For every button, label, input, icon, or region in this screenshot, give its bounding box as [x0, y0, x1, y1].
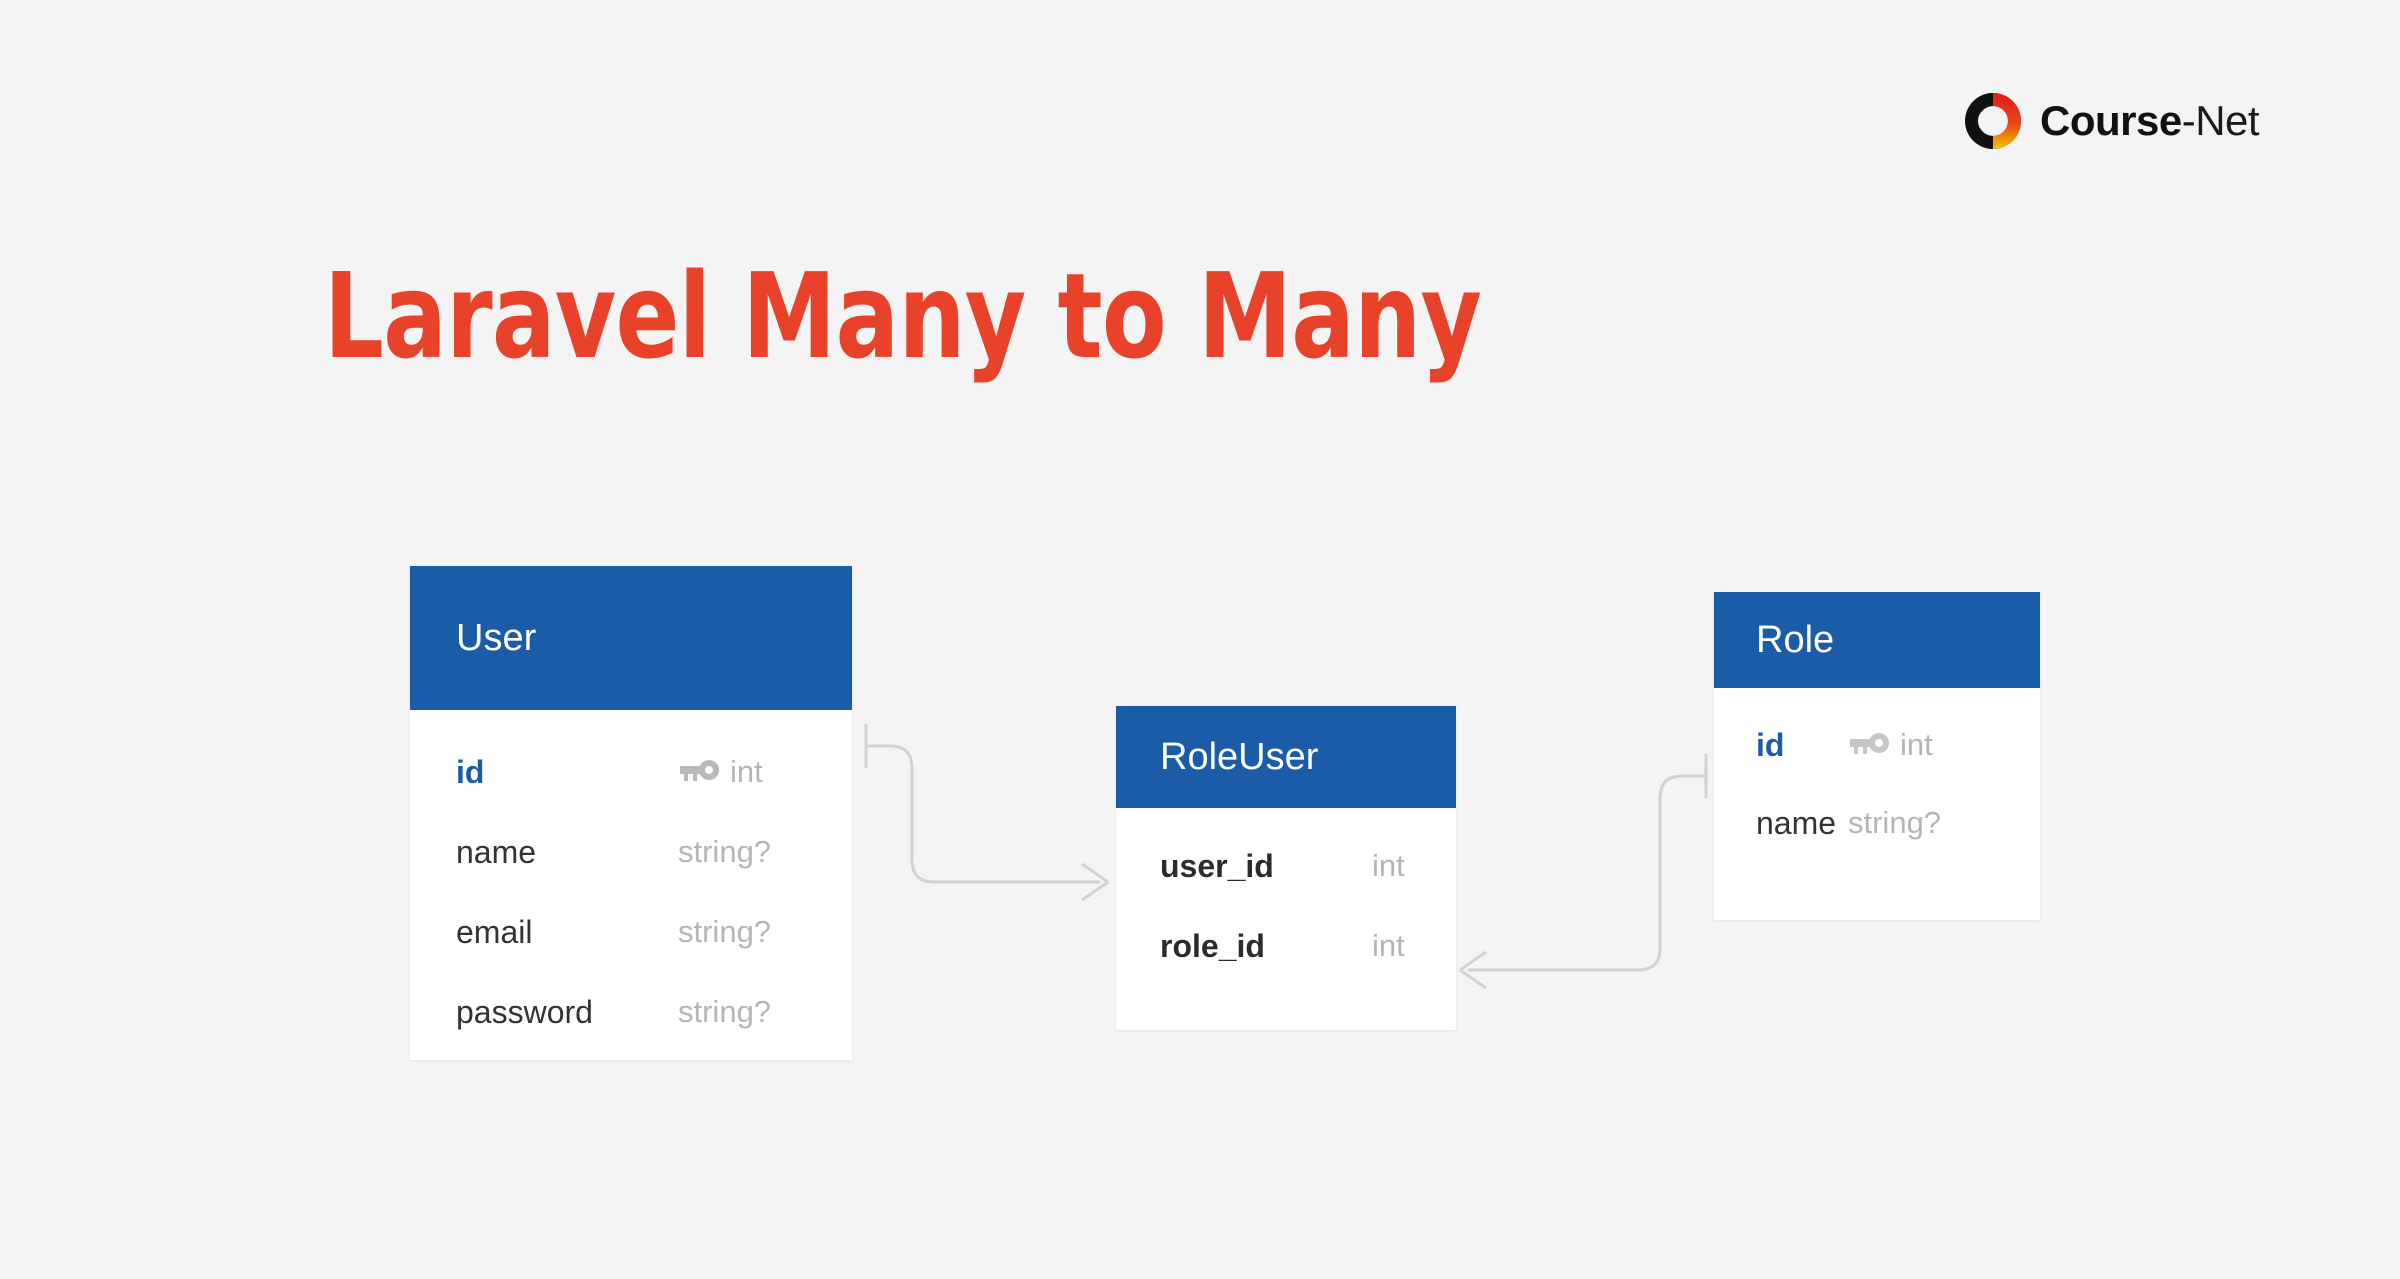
er-column-row[interactable]: id int [1714, 706, 2040, 784]
er-table-roleuser[interactable]: RoleUser user_id int role_id int [1116, 706, 1456, 1030]
er-column-row[interactable]: id int [410, 732, 852, 812]
er-column-type: int [1900, 727, 1933, 763]
cardinality-many-marker [1460, 952, 1486, 988]
cardinality-many-marker [1082, 864, 1108, 900]
logo-ring-icon [1962, 90, 2024, 152]
er-column-type: int [730, 754, 763, 790]
er-column-name: name [1756, 805, 1848, 842]
er-column-row[interactable]: password string? [410, 972, 852, 1052]
relationship-connectors: RoleUser.user_id --> RoleUser.role_id --… [0, 0, 2400, 1279]
er-column-row[interactable]: role_id int [1116, 906, 1456, 986]
er-table-role[interactable]: Role id int name string? [1714, 592, 2040, 920]
er-column-name: id [1756, 727, 1848, 764]
er-table-title: Role [1756, 619, 1834, 662]
er-table-header: Role [1714, 592, 2040, 688]
er-column-type: string? [1848, 805, 1941, 841]
er-column-type: int [1372, 848, 1405, 884]
er-column-name: name [456, 834, 678, 871]
er-table-header: User [410, 566, 852, 710]
er-column-name: user_id [1160, 848, 1372, 885]
logo-wordmark: Course-Net [2040, 100, 2259, 142]
logo-brand-sub: -Net [2182, 97, 2259, 144]
key-icon [1848, 732, 1890, 758]
er-table-body: id int name string? email [410, 710, 852, 1060]
er-column-row[interactable]: user_id int [1116, 826, 1456, 906]
er-table-body: user_id int role_id int [1116, 808, 1456, 1030]
er-column-row[interactable]: name string? [410, 812, 852, 892]
er-column-row[interactable]: name string? [1714, 784, 2040, 862]
logo-brand-main: Course [2040, 97, 2182, 144]
er-column-type: string? [678, 834, 771, 870]
er-column-name: id [456, 754, 678, 791]
er-table-user[interactable]: User id int name string? [410, 566, 852, 1060]
er-column-name: password [456, 994, 678, 1031]
course-net-logo: Course-Net [1962, 90, 2259, 152]
diagram-canvas: Course-Net Laravel Many to Many RoleUser… [0, 0, 2400, 1279]
er-column-row[interactable]: email string? [410, 892, 852, 972]
er-column-type: int [1372, 928, 1405, 964]
er-table-header: RoleUser [1116, 706, 1456, 808]
er-table-title: RoleUser [1160, 736, 1318, 779]
er-column-name: role_id [1160, 928, 1372, 965]
er-column-type: string? [678, 914, 771, 950]
relationship-role-to-roleuser [1460, 754, 1706, 988]
page-title: Laravel Many to Many [181, 255, 1625, 379]
key-icon [678, 759, 720, 785]
relationship-user-to-roleuser [866, 724, 1108, 900]
er-column-name: email [456, 914, 678, 951]
er-table-title: User [456, 617, 536, 660]
er-column-type: string? [678, 994, 771, 1030]
er-table-body: id int name string? [1714, 688, 2040, 920]
